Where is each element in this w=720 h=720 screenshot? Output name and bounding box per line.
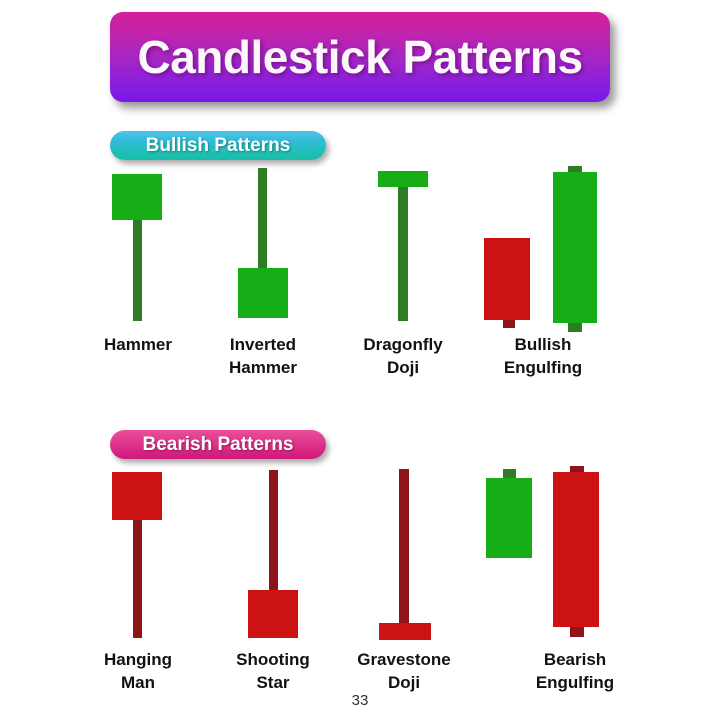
bearish-engulfing-red-body [553,472,599,627]
hanging-man-lower-wick [133,515,142,638]
dragonfly-doji-crossbar [378,171,428,187]
pattern-label-gravestone-doji: Gravestone Doji [334,648,474,694]
pattern-label-dragonfly-doji: Dragonfly Doji [333,333,473,379]
shooting-star-upper-wick [269,470,278,600]
gravestone-doji-crossbar [379,623,431,640]
shooting-star-body [248,590,298,638]
pattern-label-bearish-engulfing: Bearish Engulfing [505,648,645,694]
inverted-hammer-body [238,268,288,318]
hanging-man-body [112,472,162,520]
title-banner: Candlestick Patterns [110,12,610,102]
section-badge-bullish: Bullish Patterns [110,131,326,160]
dragonfly-doji-stem [398,180,408,321]
bullish-engulfing-green-body [553,172,597,323]
section-badge-bullish-label: Bullish Patterns [132,135,305,157]
bullish-engulfing-red-body [484,238,530,320]
hammer-body [112,174,162,220]
page-title: Candlestick Patterns [137,30,582,84]
page-number: 33 [0,692,720,709]
pattern-label-bullish-engulfing: Bullish Engulfing [473,333,613,379]
hammer-lower-wick [133,214,142,321]
gravestone-doji-stem [399,469,409,629]
pattern-label-hammer: Hammer [68,333,208,356]
bearish-engulfing-green-body [486,478,532,558]
section-badge-bearish-label: Bearish Patterns [128,434,307,456]
pattern-label-hanging-man: Hanging Man [68,648,208,694]
pattern-label-shooting-star: Shooting Star [203,648,343,694]
pattern-label-inverted-hammer: Inverted Hammer [193,333,333,379]
section-badge-bearish: Bearish Patterns [110,430,326,459]
infographic-page: Candlestick Patterns Bullish Patterns Ha… [0,0,720,720]
